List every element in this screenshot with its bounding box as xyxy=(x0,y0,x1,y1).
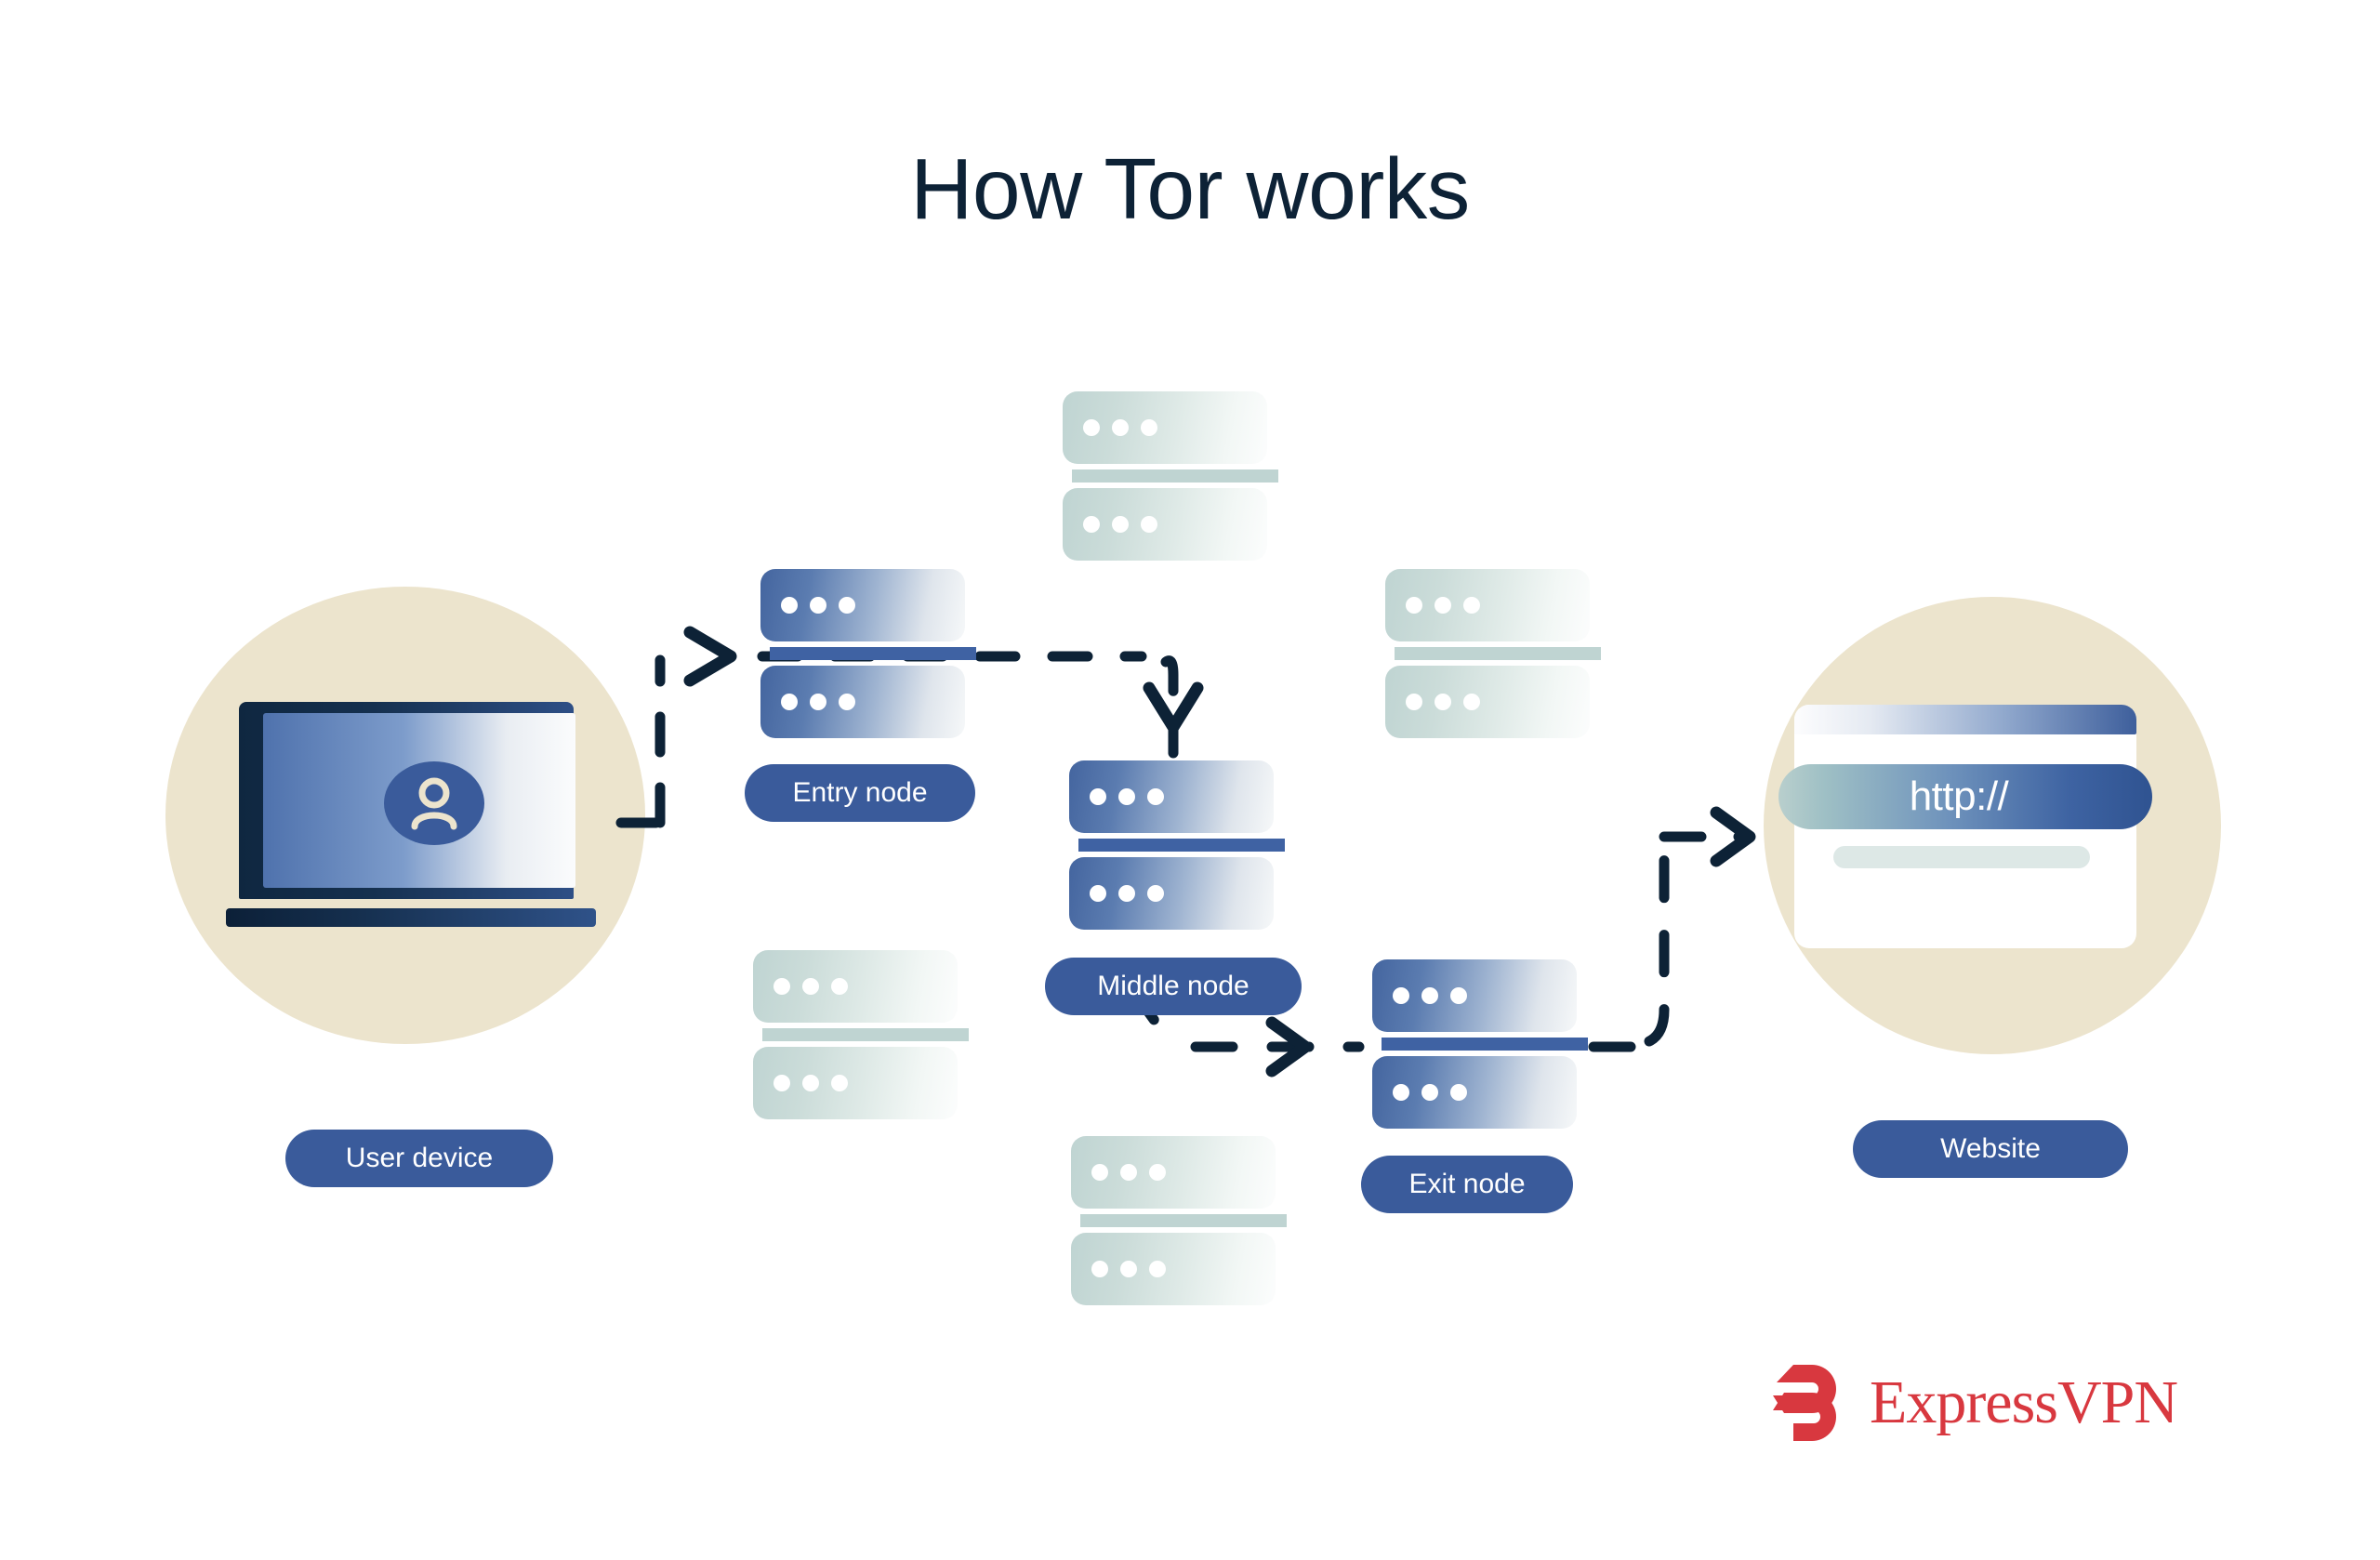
server-icon-idle-right-upper[interactable] xyxy=(1385,569,1590,738)
server-divider-bar xyxy=(1080,1214,1287,1227)
label-user-device-text: User device xyxy=(346,1143,493,1174)
server-dots-bottom xyxy=(1083,516,1157,533)
server-slab-bottom xyxy=(1071,1233,1276,1305)
laptop-base xyxy=(226,908,596,927)
server-dots-top xyxy=(1091,1164,1166,1181)
expressvpn-logo: ExpressVPN xyxy=(1762,1361,2177,1445)
laptop-lid xyxy=(239,702,574,899)
server-divider-bar xyxy=(1078,839,1285,852)
label-entry-node: Entry node xyxy=(745,764,975,822)
browser-window-icon: http:// xyxy=(1794,705,2136,948)
server-slab-top xyxy=(1385,569,1590,641)
server-dots-bottom xyxy=(1406,694,1480,710)
server-slab-bottom xyxy=(1372,1056,1577,1129)
laptop-screen xyxy=(263,713,575,888)
browser-url-bar[interactable]: http:// xyxy=(1778,764,2152,829)
label-middle-node: Middle node xyxy=(1045,958,1302,1015)
label-entry-node-text: Entry node xyxy=(792,777,927,809)
server-dots-bottom xyxy=(1393,1084,1467,1101)
label-exit-node: Exit node xyxy=(1361,1156,1573,1213)
arrowhead-into-middle-node xyxy=(1149,688,1197,727)
page-title: How Tor works xyxy=(0,141,2380,236)
label-website: Website xyxy=(1853,1120,2128,1178)
server-divider-bar xyxy=(762,1028,969,1041)
arrowhead-into-website xyxy=(1716,813,1750,861)
expressvpn-logo-icon xyxy=(1762,1361,1847,1445)
server-dots-top xyxy=(1083,419,1157,436)
server-slab-bottom xyxy=(1063,488,1267,561)
laptop-user-icon xyxy=(226,702,596,927)
server-slab-bottom xyxy=(753,1047,958,1119)
server-dots-bottom xyxy=(1090,885,1164,902)
label-user-device: User device xyxy=(285,1130,553,1187)
browser-url-text: http:// xyxy=(1910,773,2022,820)
server-icon-idle-bottom-center[interactable] xyxy=(1071,1136,1276,1305)
label-website-text: Website xyxy=(1940,1133,2041,1165)
path-exit-to-site-vertical xyxy=(1649,848,1664,1041)
server-dots-bottom xyxy=(781,694,855,710)
server-slab-top xyxy=(1071,1136,1276,1209)
server-slab-top xyxy=(1372,959,1577,1032)
server-dots-bottom xyxy=(773,1075,848,1091)
server-icon-idle-left-lower[interactable] xyxy=(753,950,958,1119)
server-slab-top xyxy=(1069,760,1274,833)
server-icon-middle-node[interactable] xyxy=(1069,760,1274,930)
server-slab-bottom xyxy=(1385,666,1590,738)
server-dots-top xyxy=(1090,788,1164,805)
browser-titlebar xyxy=(1794,705,2136,734)
server-icon-entry-node[interactable] xyxy=(760,569,965,738)
server-dots-top xyxy=(1393,987,1467,1004)
server-slab-top xyxy=(760,569,965,641)
arrowhead-into-exit-node xyxy=(1272,1023,1305,1071)
server-icon-idle-top-center[interactable] xyxy=(1063,391,1267,561)
server-dots-bottom xyxy=(1091,1261,1166,1277)
path-entry-to-middle-vertical xyxy=(1166,661,1173,753)
label-exit-node-text: Exit node xyxy=(1408,1169,1525,1200)
server-dots-top xyxy=(781,597,855,614)
server-slab-top xyxy=(753,950,958,1023)
server-dots-top xyxy=(773,978,848,995)
server-icon-exit-node[interactable] xyxy=(1372,959,1577,1129)
server-slab-bottom xyxy=(760,666,965,738)
server-dots-top xyxy=(1406,597,1480,614)
server-divider-bar xyxy=(1382,1038,1588,1051)
server-slab-top xyxy=(1063,391,1267,464)
arrowhead-into-entry-node xyxy=(690,632,731,681)
expressvpn-wordmark: ExpressVPN xyxy=(1870,1372,2177,1434)
server-divider-bar xyxy=(770,647,976,660)
diagram-canvas: How Tor works xyxy=(0,0,2380,1560)
browser-content-placeholder xyxy=(1833,846,2090,868)
label-middle-node-text: Middle node xyxy=(1097,971,1249,1002)
user-avatar-icon xyxy=(384,761,484,845)
server-slab-bottom xyxy=(1069,857,1274,930)
server-divider-bar xyxy=(1072,469,1278,483)
server-divider-bar xyxy=(1395,647,1601,660)
